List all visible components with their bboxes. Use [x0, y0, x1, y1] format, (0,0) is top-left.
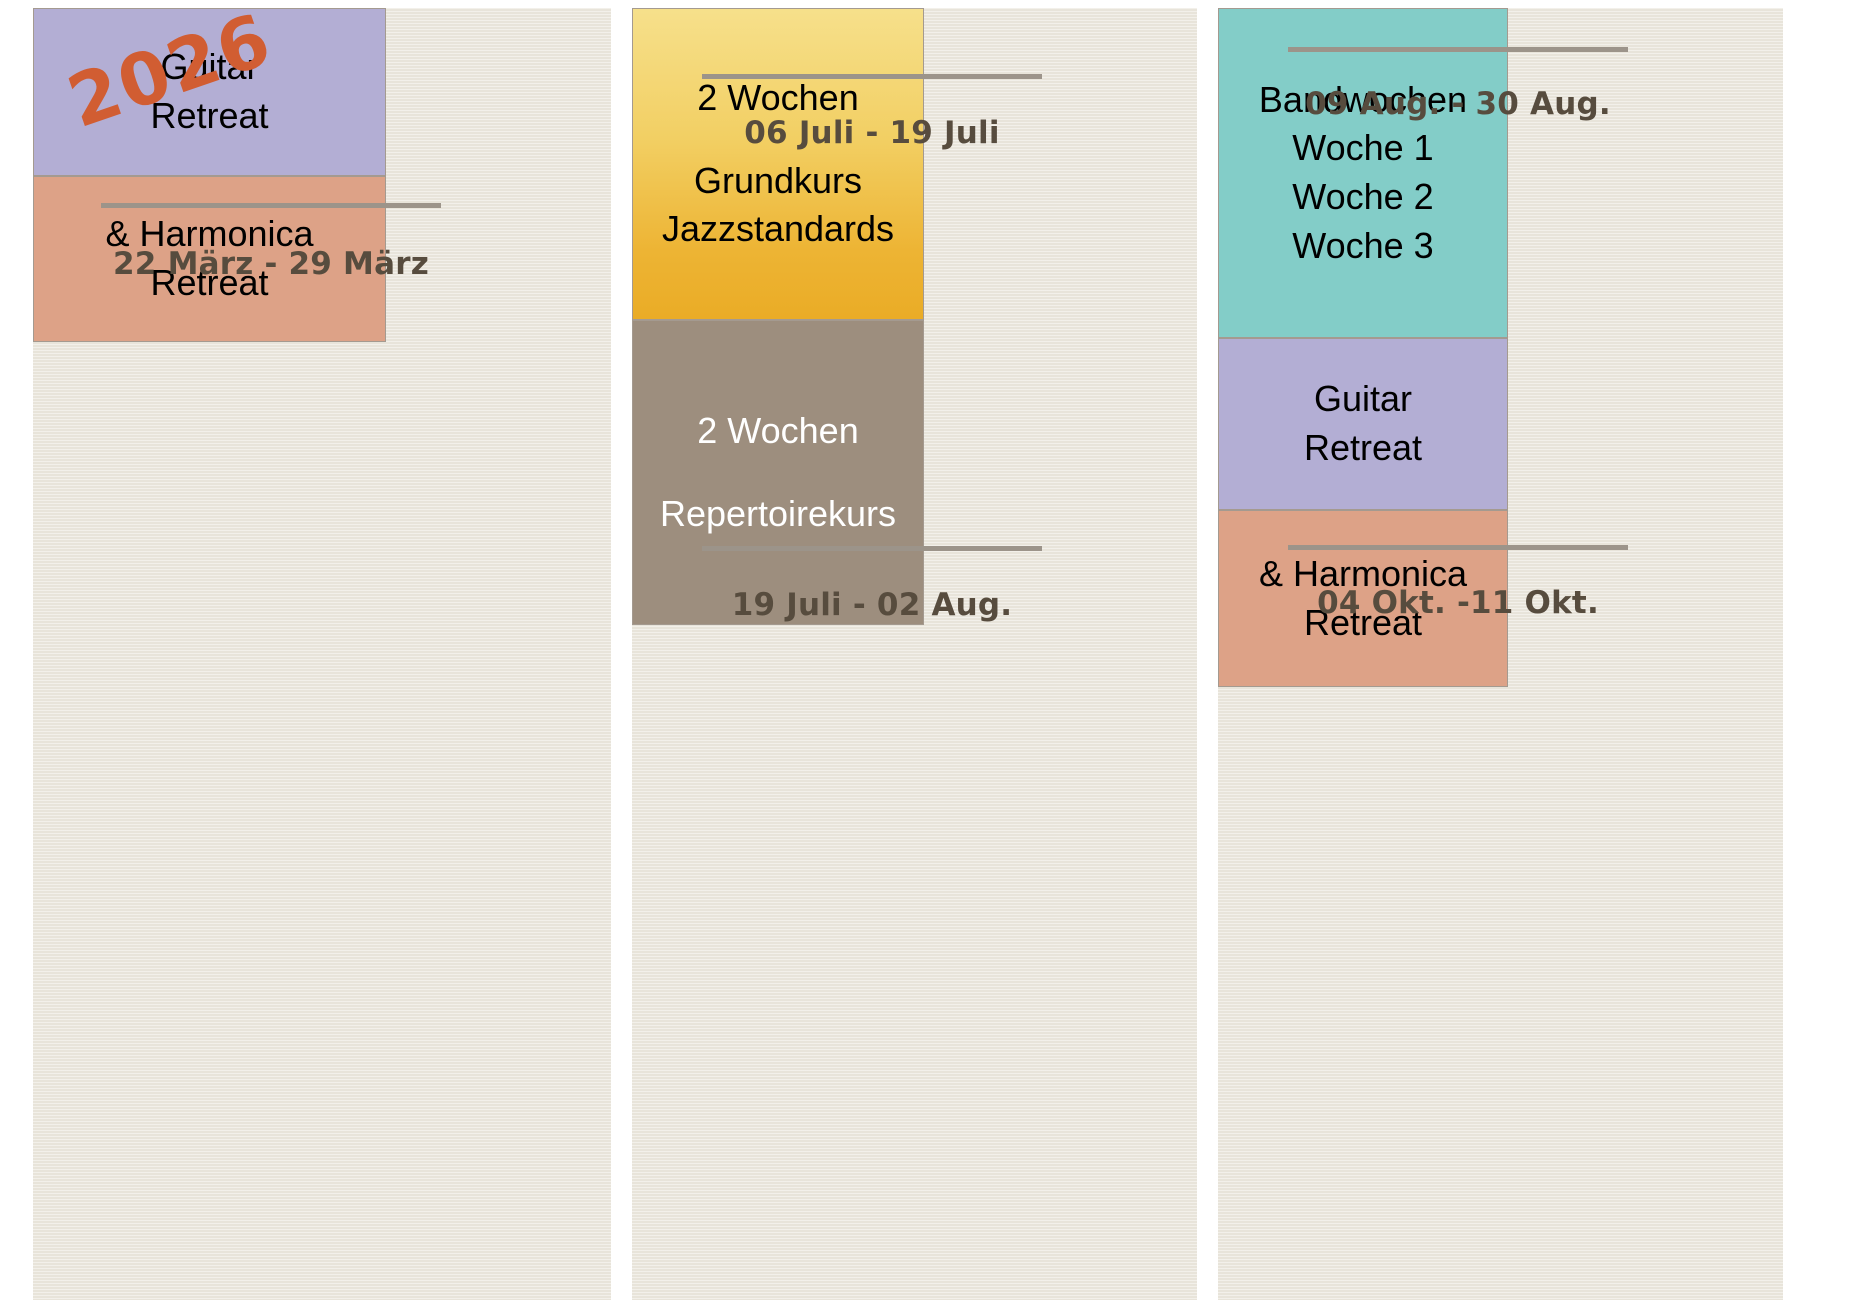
- section-divider-rule: [1288, 545, 1628, 550]
- course-box-guitar-retreat[interactable]: Guitar Retreat: [1218, 338, 1508, 510]
- section-date-range: 19 Juli - 02 Aug.: [702, 587, 1042, 623]
- section-divider-rule: [702, 74, 1042, 79]
- section-oktober: 04 Okt. -11 Okt.: [1288, 545, 1628, 621]
- course-line: Woche 1: [1292, 124, 1433, 173]
- calendar-column-2: 06 Juli - 19 Juli 2 Wochen Grundkurs Jaz…: [632, 8, 1197, 1300]
- section-date-range: 04 Okt. -11 Okt.: [1288, 585, 1628, 621]
- calendar-column-1: 2026 22 März - 29 März Guitar Retreat & …: [33, 8, 611, 1300]
- section-juli-1: 06 Juli - 19 Juli: [702, 74, 1042, 151]
- section-juli-2: 19 Juli - 02 Aug.: [702, 546, 1042, 623]
- section-divider-rule: [101, 203, 441, 208]
- section-date-range: 22 März - 29 März: [101, 246, 441, 282]
- course-box-grundkurs-jazzstandards[interactable]: 2 Wochen Grundkurs Jazzstandards: [632, 8, 924, 320]
- course-calendar-poster: 2026 22 März - 29 März Guitar Retreat & …: [0, 0, 1860, 1308]
- section-divider-rule: [702, 546, 1042, 551]
- course-line: Jazzstandards: [662, 205, 894, 254]
- course-line: Woche 3: [1292, 222, 1433, 271]
- section-divider-rule: [1288, 47, 1628, 52]
- section-maerz: 22 März - 29 März: [101, 203, 441, 282]
- section-august: 09 Aug. - 30 Aug.: [1288, 47, 1628, 122]
- section-date-range: 09 Aug. - 30 Aug.: [1288, 86, 1628, 122]
- course-line: 2 Wochen: [697, 407, 858, 456]
- course-line: Guitar: [1314, 375, 1412, 424]
- course-line: Retreat: [1304, 424, 1422, 473]
- section-date-range: 06 Juli - 19 Juli: [702, 115, 1042, 151]
- course-line: Woche 2: [1292, 173, 1433, 222]
- course-line: Grundkurs: [694, 157, 862, 206]
- course-line: Repertoirekurs: [660, 490, 896, 539]
- calendar-column-3: 09 Aug. - 30 Aug. Bandwochen Woche 1 Woc…: [1218, 8, 1783, 1300]
